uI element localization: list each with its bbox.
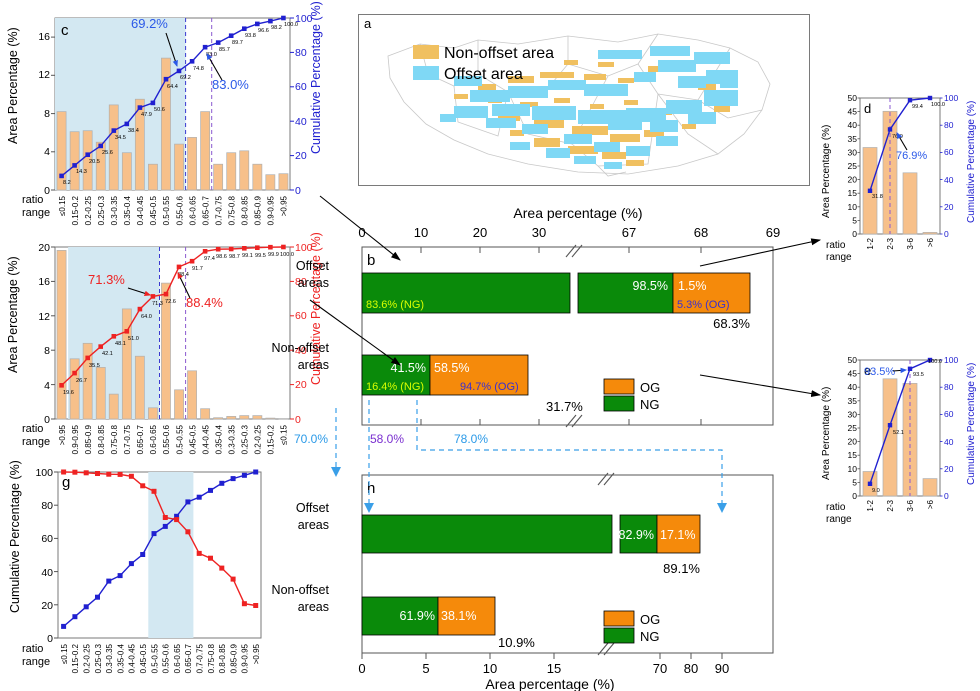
panel-b-legend-label-ng: NG [640, 397, 660, 412]
panel-d: Area Percentage (%) Cumulative Percentag… [818, 88, 980, 280]
svg-text:10: 10 [483, 661, 497, 676]
svg-text:2-3: 2-3 [886, 499, 895, 511]
svg-text:12: 12 [38, 69, 50, 81]
panel-f-category-labels: >0.95 0.9-0.95 0.85-0.9 0.8-0.85 0.75-0.… [58, 424, 289, 454]
svg-text:35: 35 [848, 134, 858, 144]
panel-d-letter: d [864, 101, 871, 116]
svg-text:0.85-0.9: 0.85-0.9 [229, 643, 238, 673]
svg-text:30: 30 [532, 225, 546, 240]
panel-h-nonoffset-total: 10.9% [498, 635, 535, 650]
map-legend-label-offset: Offset area [444, 66, 523, 83]
svg-text:≤0.15: ≤0.15 [58, 195, 67, 216]
svg-text:20: 20 [944, 464, 954, 474]
svg-text:93.5: 93.5 [913, 372, 924, 378]
panel-h-offset-og-inner: 17.1% [660, 528, 695, 542]
svg-text:0.35-0.4: 0.35-0.4 [123, 195, 132, 225]
panel-b-offset-og-note: 5.3% (OG) [677, 299, 730, 311]
svg-text:5: 5 [852, 477, 857, 487]
svg-text:20: 20 [848, 175, 858, 185]
svg-text:≤0.15: ≤0.15 [60, 643, 69, 664]
svg-text:0.75-0.8: 0.75-0.8 [110, 424, 119, 454]
svg-text:100.0: 100.0 [928, 359, 942, 365]
svg-text:0: 0 [852, 229, 857, 239]
svg-text:26.7: 26.7 [76, 378, 87, 384]
panel-b: Area percentage (%) 01020 306768 69 b 9 [330, 195, 830, 435]
svg-text:69: 69 [766, 225, 780, 240]
svg-text:0: 0 [944, 491, 949, 501]
svg-text:96.6: 96.6 [258, 28, 269, 34]
panel-g-shaded-region [148, 472, 193, 638]
svg-text:25: 25 [848, 161, 858, 171]
svg-text:0.2-0.25: 0.2-0.25 [84, 195, 93, 225]
svg-text:0.25-0.3: 0.25-0.3 [241, 424, 250, 454]
svg-text:15: 15 [547, 661, 561, 676]
panel-g-category-labels: ≤0.15 0.15-0.2 0.2-0.25 0.25-0.3 0.3-0.3… [60, 643, 261, 673]
svg-text:0.45-0.5: 0.45-0.5 [149, 195, 158, 225]
svg-text:60: 60 [295, 310, 307, 322]
svg-text:0: 0 [944, 229, 949, 239]
panel-f-xlabel-line2: range [22, 436, 50, 448]
svg-text:0.7-0.75: 0.7-0.75 [123, 424, 132, 454]
svg-text:16: 16 [38, 276, 50, 288]
svg-text:0.15-0.2: 0.15-0.2 [71, 195, 80, 225]
svg-text:100: 100 [944, 93, 958, 103]
panel-h-legend-label-ng: NG [640, 629, 660, 644]
svg-text:85.7: 85.7 [219, 47, 230, 53]
svg-text:0: 0 [295, 414, 301, 426]
svg-text:0.7-0.75: 0.7-0.75 [214, 195, 223, 225]
svg-text:80: 80 [944, 382, 954, 392]
svg-text:12: 12 [38, 311, 50, 323]
panel-f-xlabel-line1: ratio [22, 423, 43, 435]
svg-text:0.65-0.7: 0.65-0.7 [201, 195, 210, 225]
svg-text:98.6: 98.6 [216, 254, 227, 260]
panel-b-letter: b [367, 252, 375, 269]
svg-text:93.8: 93.8 [245, 33, 256, 39]
svg-text:0.6-0.65: 0.6-0.65 [149, 424, 158, 454]
panel-g-yticks: 02040 6080100 [35, 467, 53, 645]
svg-text:0.45-0.5: 0.45-0.5 [139, 643, 148, 673]
svg-text:20: 20 [41, 600, 53, 612]
panel-e-y2ticks: 02040 6080100 [944, 355, 958, 501]
panel-h-xticks: 0510 157080 90 [358, 661, 729, 676]
svg-text:80: 80 [295, 47, 307, 59]
svg-text:0: 0 [358, 225, 365, 240]
svg-text:0.3-0.35: 0.3-0.35 [110, 195, 119, 225]
panel-c-ylabel: Area Percentage (%) [6, 27, 20, 144]
svg-text:0.4-0.45: 0.4-0.45 [128, 643, 137, 673]
svg-text:0.9-0.95: 0.9-0.95 [241, 643, 250, 673]
map-legend-swatch-offset [413, 66, 439, 80]
svg-text:40: 40 [848, 120, 858, 130]
svg-text:50.6: 50.6 [154, 107, 165, 113]
svg-text:0: 0 [47, 633, 53, 645]
svg-text:31.8: 31.8 [872, 194, 883, 200]
panel-e-y2label: Cumulative Percentage (%) [966, 363, 977, 485]
svg-text:20: 20 [944, 202, 954, 212]
panel-c-letter: c [61, 22, 69, 39]
panel-c-xlabel-line2: range [22, 207, 50, 219]
svg-text:45: 45 [848, 369, 858, 379]
panel-g-ylabel: Cumulative Percentage (%) [8, 460, 22, 613]
panel-b-svg: Area percentage (%) 01020 306768 69 b 9 [330, 195, 830, 435]
panel-b-xticks: 01020 306768 69 [358, 225, 780, 240]
panel-c-category-labels: ≤0.15 0.15-0.2 0.2-0.25 0.25-0.3 0.3-0.3… [58, 195, 289, 225]
svg-text:64.4: 64.4 [167, 84, 178, 90]
svg-text:0.55-0.6: 0.55-0.6 [162, 424, 171, 454]
svg-text:25.6: 25.6 [102, 150, 113, 156]
svg-text:0.75-0.8: 0.75-0.8 [207, 643, 216, 673]
svg-text:40: 40 [944, 175, 954, 185]
panel-d-yticks: 0510 152025 303540 4550 [848, 93, 858, 239]
panel-c-xlabel-line1: ratio [22, 194, 43, 206]
svg-text:>6: >6 [926, 237, 935, 247]
svg-text:19.6: 19.6 [63, 390, 74, 396]
panel-b-nonoffset-total: 31.7% [546, 399, 583, 414]
svg-text:0.55-0.6: 0.55-0.6 [175, 195, 184, 225]
map-legend-label-nonoffset: Non-offset area [444, 45, 554, 62]
svg-text:60: 60 [295, 81, 307, 93]
svg-text:40: 40 [295, 116, 307, 128]
svg-text:71.3: 71.3 [152, 301, 163, 307]
panel-e-xlabel-line1: ratio [826, 502, 846, 513]
svg-text:35: 35 [848, 396, 858, 406]
svg-text:2-3: 2-3 [886, 237, 895, 249]
svg-text:0.35-0.4: 0.35-0.4 [214, 424, 223, 454]
svg-text:30: 30 [848, 409, 858, 419]
svg-text:50: 50 [848, 355, 858, 365]
svg-text:1-2: 1-2 [866, 237, 875, 249]
svg-text:10: 10 [848, 202, 858, 212]
svg-text:1-2: 1-2 [866, 499, 875, 511]
panel-c-yticks: 04 81216 [38, 31, 50, 197]
svg-text:20.5: 20.5 [89, 159, 100, 165]
panel-e-svg: Area Percentage (%) Cumulative Percentag… [818, 350, 980, 542]
svg-text:100: 100 [295, 13, 313, 25]
panel-h-xlabel: Area percentage (%) [485, 676, 614, 691]
svg-text:80: 80 [41, 500, 53, 512]
panel-b-row-label-nonoffset: Non-offsetareas [226, 340, 329, 374]
svg-text:38.4: 38.4 [128, 128, 139, 134]
panel-b-row-label-offset: Offsetareas [244, 258, 329, 292]
svg-text:0.15-0.2: 0.15-0.2 [267, 424, 276, 454]
panel-d-svg: Area Percentage (%) Cumulative Percentag… [818, 88, 980, 280]
panel-h-letter: h [367, 480, 375, 497]
panel-f-annotation-2: 88.4% [186, 295, 223, 310]
svg-text:30: 30 [848, 147, 858, 157]
svg-text:0.25-0.3: 0.25-0.3 [94, 643, 103, 673]
panel-h-row-label-offset: Offsetareas [244, 500, 329, 534]
svg-text:0.8-0.85: 0.8-0.85 [218, 643, 227, 673]
svg-text:0: 0 [852, 491, 857, 501]
svg-text:70: 70 [653, 661, 667, 676]
svg-text:0: 0 [44, 414, 50, 426]
svg-text:>0.95: >0.95 [280, 195, 289, 216]
svg-text:10: 10 [848, 464, 858, 474]
panel-c-svg: Area Percentage (%) Cumulative Percentag… [0, 4, 330, 219]
svg-text:98.7: 98.7 [229, 254, 240, 260]
svg-text:60: 60 [944, 147, 954, 157]
svg-text:40: 40 [848, 382, 858, 392]
panel-f-ylabel: Area Percentage (%) [6, 256, 20, 373]
svg-text:20: 20 [295, 379, 307, 391]
svg-text:100: 100 [944, 355, 958, 365]
svg-text:91.7: 91.7 [192, 266, 203, 272]
svg-text:40: 40 [41, 567, 53, 579]
panel-d-y2label: Cumulative Percentage (%) [966, 101, 977, 223]
svg-text:≤0.15: ≤0.15 [280, 424, 289, 445]
panel-b-nonoffset-ng-note: 16.4% (NG) [366, 381, 424, 393]
svg-text:0.4-0.45: 0.4-0.45 [136, 195, 145, 225]
svg-text:80: 80 [684, 661, 698, 676]
panel-h-row-label-nonoffset: Non-offsetareas [226, 582, 329, 616]
panel-h-offset-total: 89.1% [663, 561, 700, 576]
panel-h-legend-label-og: OG [640, 612, 660, 627]
svg-text:3-6: 3-6 [906, 237, 915, 249]
svg-text:0.15-0.2: 0.15-0.2 [71, 643, 80, 673]
panel-c-annotation-2: 83.0% [212, 77, 249, 92]
panel-e-yticks: 0510 152025 303540 4550 [848, 355, 858, 501]
svg-text:15: 15 [848, 188, 858, 198]
svg-text:5: 5 [422, 661, 429, 676]
svg-text:72.6: 72.6 [165, 299, 176, 305]
svg-text:0.25-0.3: 0.25-0.3 [97, 195, 106, 225]
panel-e-annotation: 93.5% [864, 366, 895, 378]
panel-d-ylabel: Area Percentage (%) [821, 125, 832, 218]
svg-text:>0.95: >0.95 [58, 424, 67, 445]
svg-text:10: 10 [414, 225, 428, 240]
svg-text:0.7-0.75: 0.7-0.75 [196, 643, 205, 673]
svg-text:16: 16 [38, 31, 50, 43]
panel-d-y2ticks: 02040 6080100 [944, 93, 958, 239]
panel-h-nonoffset-og-inner: 38.1% [441, 609, 476, 623]
svg-text:0: 0 [44, 185, 50, 197]
panel-e-ylabel: Area Percentage (%) [821, 387, 832, 480]
panel-d-xlabel-line2: range [826, 252, 852, 263]
panel-b-offset-total: 68.3% [713, 316, 750, 331]
svg-text:34.5: 34.5 [115, 135, 126, 141]
svg-text:9.0: 9.0 [872, 488, 880, 494]
svg-text:15: 15 [848, 450, 858, 460]
svg-text:0.4-0.45: 0.4-0.45 [201, 424, 210, 454]
svg-text:0.5-0.55: 0.5-0.55 [162, 195, 171, 225]
svg-text:3-6: 3-6 [906, 499, 915, 511]
svg-text:0.9-0.95: 0.9-0.95 [71, 424, 80, 454]
panel-e: Area Percentage (%) Cumulative Percentag… [818, 350, 980, 542]
svg-text:67: 67 [622, 225, 636, 240]
svg-text:100: 100 [295, 242, 313, 254]
panel-h: h 82.9% 17.1% 89.1% 61.9% 38.1% 10.9% OG… [330, 455, 830, 691]
panel-d-category-labels: 1-2 2-3 3-6 >6 [866, 237, 935, 249]
svg-text:4: 4 [44, 146, 50, 158]
svg-text:50: 50 [848, 93, 858, 103]
svg-text:0.85-0.9: 0.85-0.9 [84, 424, 93, 454]
svg-text:100: 100 [35, 467, 53, 479]
svg-text:74.8: 74.8 [193, 66, 204, 72]
svg-text:>0.95: >0.95 [252, 643, 261, 664]
svg-text:0.8-0.85: 0.8-0.85 [241, 195, 250, 225]
svg-text:60: 60 [41, 533, 53, 545]
panel-e-category-labels: 1-2 2-3 3-6 >6 [866, 499, 935, 511]
svg-text:69.2: 69.2 [180, 75, 191, 81]
svg-text:20: 20 [848, 437, 858, 447]
panel-b-xlabel: Area percentage (%) [513, 205, 642, 221]
svg-text:47.9: 47.9 [141, 112, 152, 118]
svg-text:42.1: 42.1 [102, 351, 113, 357]
svg-text:0: 0 [295, 185, 301, 197]
svg-text:0.6-0.65: 0.6-0.65 [173, 643, 182, 673]
panel-b-offset-ng-note: 83.6% (NG) [366, 299, 424, 311]
panel-a-map: a [358, 14, 810, 186]
svg-text:0.35-0.4: 0.35-0.4 [116, 643, 125, 673]
panel-b-legend-label-og: OG [640, 380, 660, 395]
panel-c-annotation-1: 69.2% [131, 16, 168, 31]
panel-g-xlabel-line2: range [22, 656, 50, 668]
svg-text:0.45-0.5: 0.45-0.5 [188, 424, 197, 454]
panel-g-xlabel-line1: ratio [22, 643, 43, 655]
svg-text:0.3-0.35: 0.3-0.35 [105, 643, 114, 673]
svg-text:14.3: 14.3 [76, 169, 87, 175]
svg-text:4: 4 [44, 380, 50, 392]
svg-text:20: 20 [473, 225, 487, 240]
svg-text:40: 40 [944, 437, 954, 447]
svg-text:45: 45 [848, 107, 858, 117]
svg-text:51.0: 51.0 [128, 336, 139, 342]
svg-text:0.55-0.6: 0.55-0.6 [162, 643, 171, 673]
svg-text:0.2-0.25: 0.2-0.25 [254, 424, 263, 454]
svg-text:98.2: 98.2 [271, 25, 282, 31]
svg-text:0.8-0.85: 0.8-0.85 [97, 424, 106, 454]
svg-text:90: 90 [715, 661, 729, 676]
svg-text:25: 25 [848, 423, 858, 433]
svg-text:89.7: 89.7 [232, 40, 243, 46]
svg-text:20: 20 [295, 150, 307, 162]
svg-text:97.4: 97.4 [204, 256, 215, 262]
panel-f-yticks: 048 121620 [38, 242, 50, 426]
svg-text:0.2-0.25: 0.2-0.25 [83, 643, 92, 673]
svg-text:48.1: 48.1 [115, 341, 126, 347]
panel-b-offset-ng-inner: 98.5% [633, 279, 668, 293]
svg-text:0.65-0.7: 0.65-0.7 [136, 424, 145, 454]
panel-d-annotation: 76.9% [896, 150, 927, 162]
svg-text:0.5-0.55: 0.5-0.55 [175, 424, 184, 454]
svg-text:0.6-0.65: 0.6-0.65 [188, 195, 197, 225]
panel-c: Area Percentage (%) Cumulative Percentag… [0, 4, 330, 219]
svg-text:8.2: 8.2 [63, 180, 71, 186]
panel-b-nonoffset-og-inner: 58.5% [434, 361, 469, 375]
svg-text:76.9: 76.9 [892, 134, 903, 140]
map-legend-swatch-nonoffset [413, 45, 439, 59]
panel-g: Cumulative Percentage (%) g [0, 458, 340, 691]
svg-text:0.9-0.95: 0.9-0.95 [267, 195, 276, 225]
svg-text:8: 8 [44, 345, 50, 357]
panel-f-annotation-1: 71.3% [88, 272, 125, 287]
svg-text:5: 5 [852, 215, 857, 225]
panel-g-letter: g [62, 474, 70, 491]
panel-b-nonoffset-ng-inner: 41.5% [391, 361, 426, 375]
svg-text:8: 8 [44, 108, 50, 120]
svg-text:0.3-0.35: 0.3-0.35 [228, 424, 237, 454]
svg-text:0.85-0.9: 0.85-0.9 [254, 195, 263, 225]
panel-h-nonoffset-ng-inner: 61.9% [400, 609, 435, 623]
svg-text:0.5-0.55: 0.5-0.55 [150, 643, 159, 673]
svg-text:0.75-0.8: 0.75-0.8 [228, 195, 237, 225]
panel-h-offset-ng-inner: 82.9% [619, 528, 654, 542]
panel-h-svg: h 82.9% 17.1% 89.1% 61.9% 38.1% 10.9% OG… [330, 455, 830, 691]
svg-text:68: 68 [694, 225, 708, 240]
svg-text:>6: >6 [926, 499, 935, 509]
panel-b-offset-og-inner: 1.5% [678, 279, 707, 293]
svg-text:52.1: 52.1 [893, 430, 904, 436]
panel-g-svg: Cumulative Percentage (%) g [0, 458, 340, 691]
svg-text:0: 0 [358, 661, 365, 676]
svg-text:64.0: 64.0 [141, 314, 152, 320]
svg-text:99.4: 99.4 [912, 104, 923, 110]
svg-text:20: 20 [38, 242, 50, 254]
panel-d-xlabel-line1: ratio [826, 240, 846, 251]
panel-b-nonoffset-og-note: 94.7% (OG) [460, 381, 519, 393]
panel-e-xlabel-line2: range [826, 514, 852, 525]
svg-text:0.65-0.7: 0.65-0.7 [184, 643, 193, 673]
svg-text:100.0: 100.0 [931, 102, 945, 108]
svg-text:35.5: 35.5 [89, 363, 100, 369]
svg-text:60: 60 [944, 409, 954, 419]
svg-text:80: 80 [944, 120, 954, 130]
